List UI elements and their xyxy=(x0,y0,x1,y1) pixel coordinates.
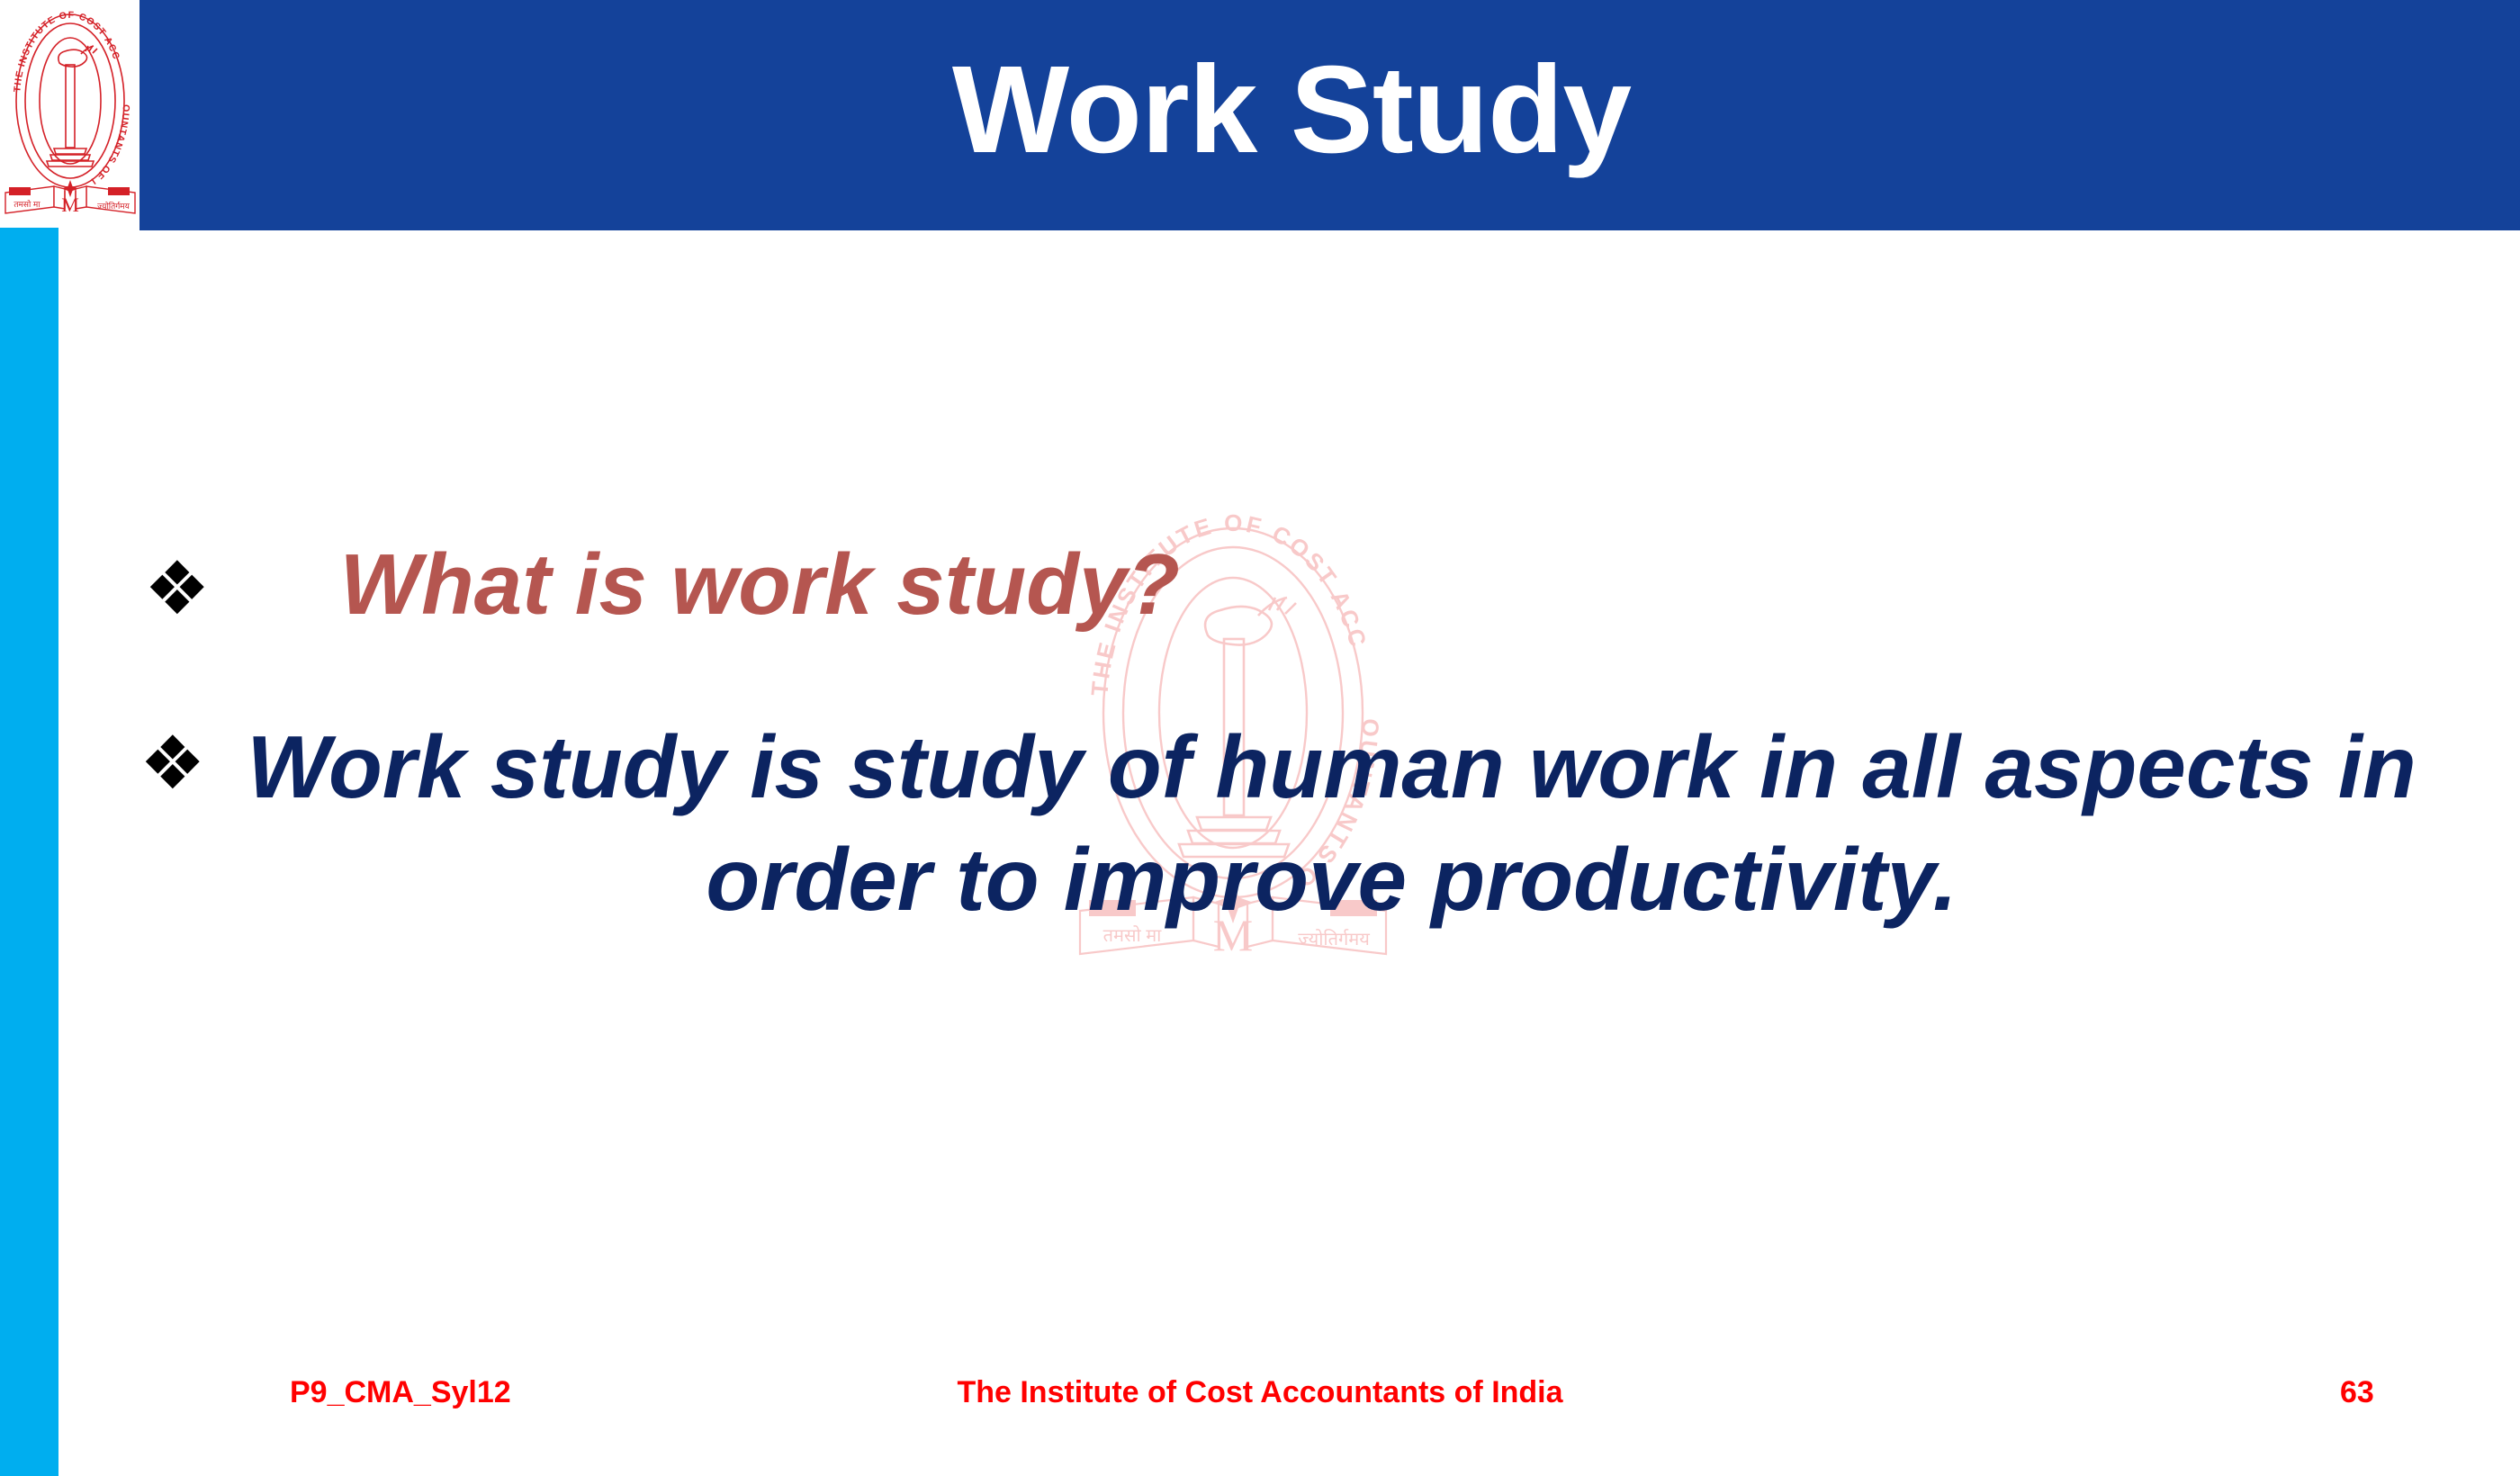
slide-body: ❖ What is work study? ❖ Work study is st… xyxy=(90,270,2430,1332)
slide-canvas: Work Study THE INSTITUTE OF COST ACC OUN… xyxy=(0,0,2520,1476)
svg-text:तमसो मा: तमसो मा xyxy=(13,199,40,209)
svg-text:OUNTANTS OF INDIA: OUNTANTS OF INDIA xyxy=(2,2,131,187)
left-accent-rail xyxy=(0,228,58,1476)
logo-monogram: M xyxy=(61,193,79,216)
footer-page-number: 63 xyxy=(2340,1375,2374,1410)
bullet-item-definition: ❖ Work study is study of human work in a… xyxy=(139,711,2443,937)
bullet-item-question: ❖ What is work study? xyxy=(144,540,2394,631)
bullet-text-definition: Work study is study of human work in all… xyxy=(229,711,2434,937)
diamond-bullet-icon: ❖ xyxy=(139,711,206,801)
diamond-bullet-icon: ❖ xyxy=(144,540,211,626)
slide-footer: P9_CMA_Syl12 The Institute of Cost Accou… xyxy=(0,1375,2520,1438)
bullet-text-question: What is work study? xyxy=(340,540,1180,631)
page-title: Work Study xyxy=(139,20,2443,200)
svg-text:ज्योतिर्गमय: ज्योतिर्गमय xyxy=(97,201,130,211)
icai-seal-logo: THE INSTITUTE OF COST ACC OUNTANTS OF IN… xyxy=(2,2,139,227)
footer-institute-name: The Institute of Cost Accountants of Ind… xyxy=(0,1375,2520,1410)
